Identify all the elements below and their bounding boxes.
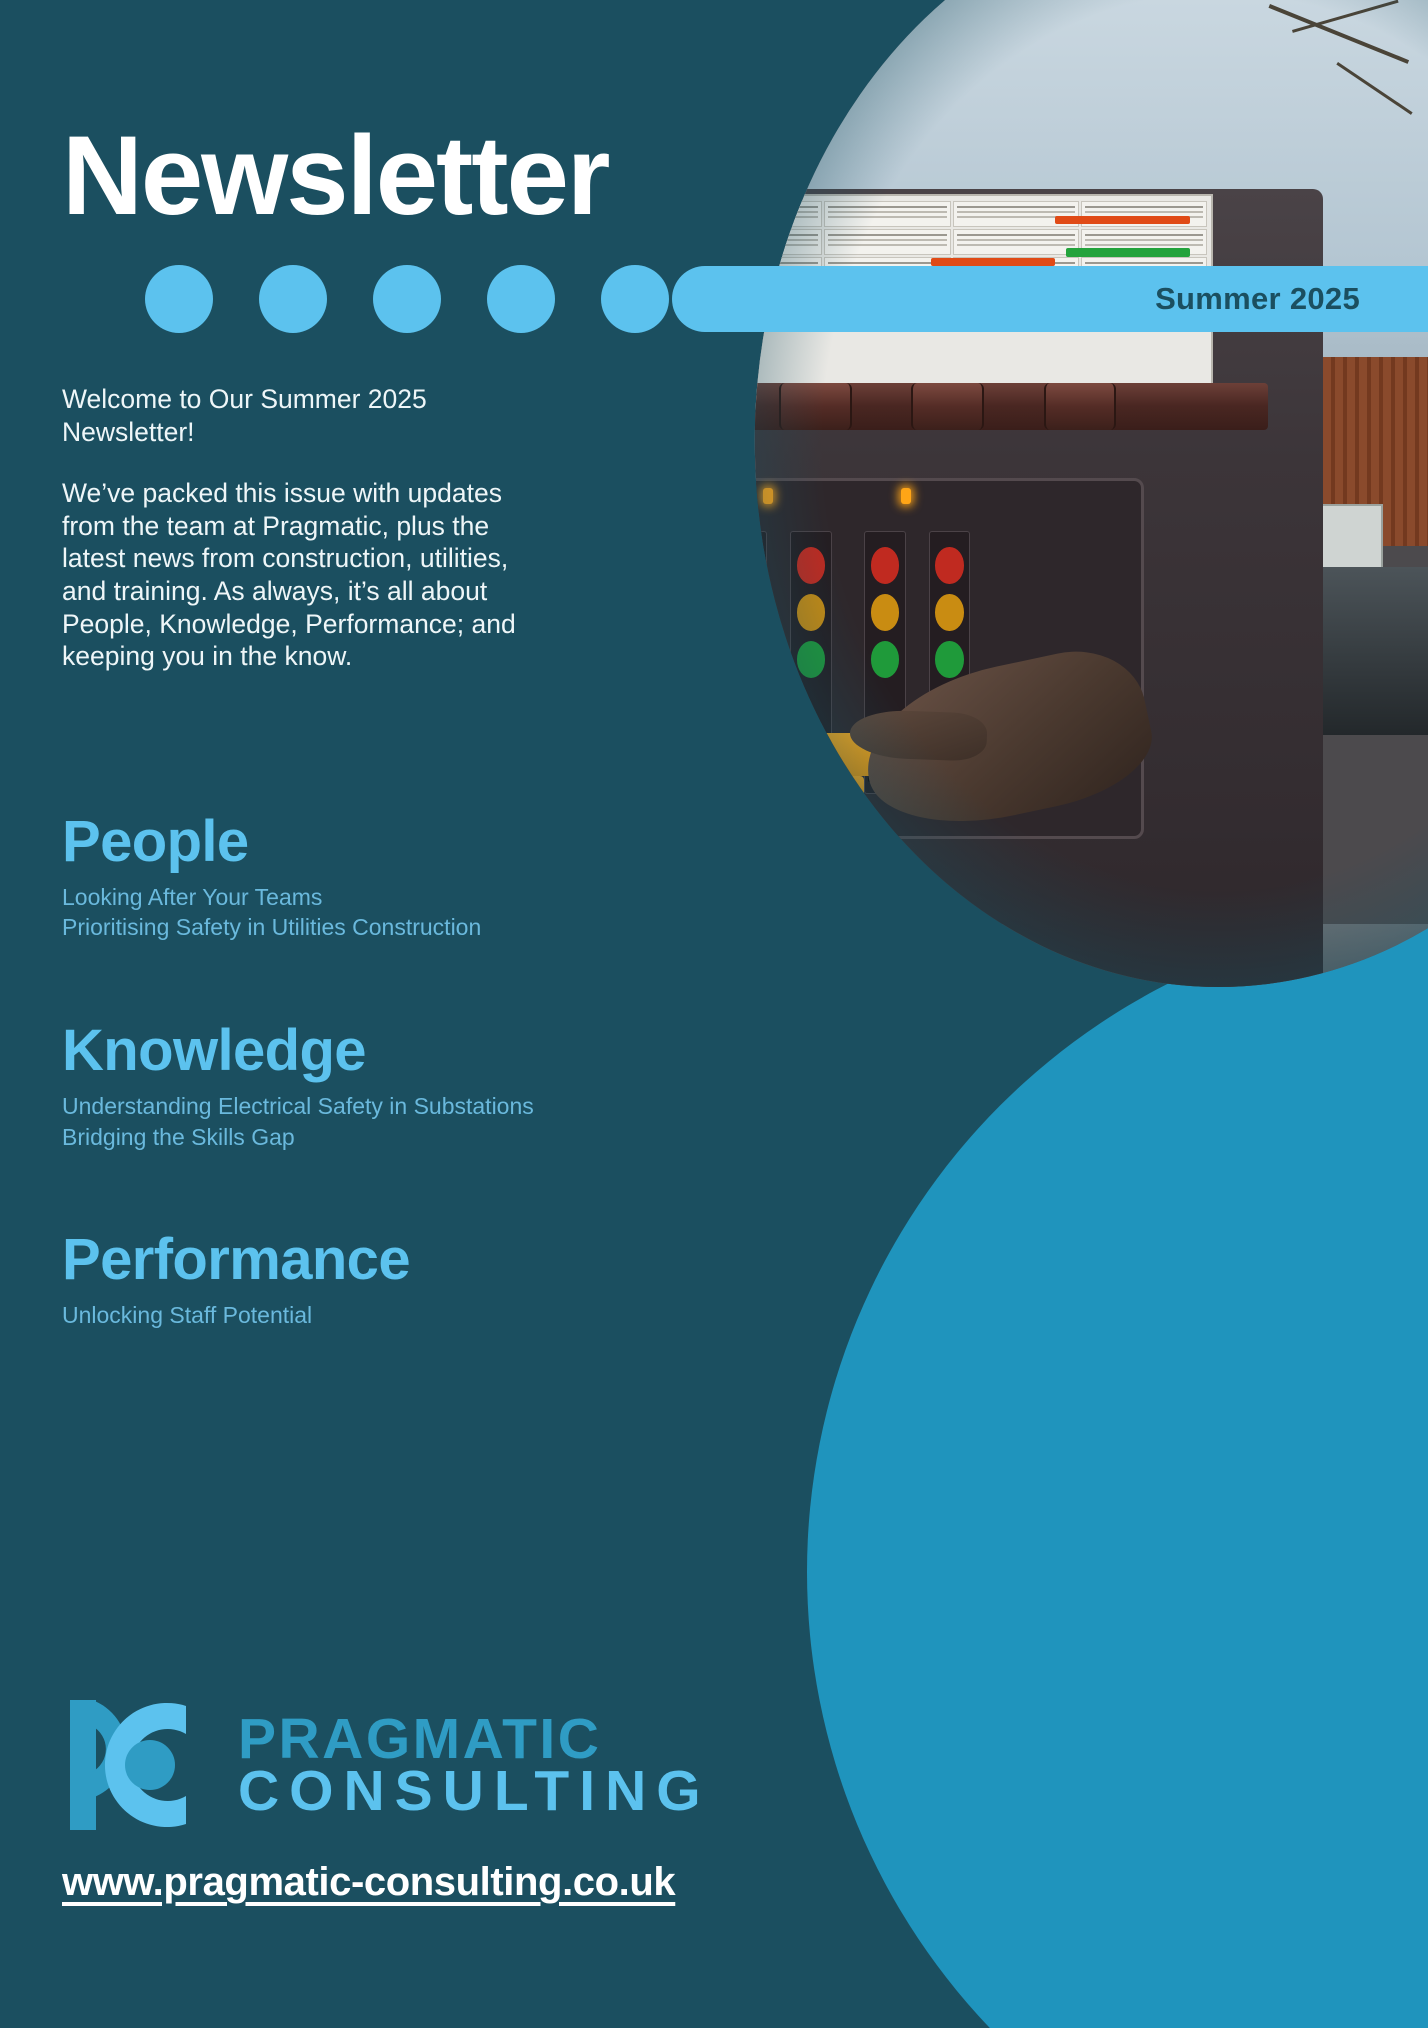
newsletter-cover-page: 85 35 85 bbox=[0, 0, 1428, 2028]
section-item[interactable]: Understanding Electrical Safety in Subst… bbox=[62, 1091, 702, 1122]
logo-name-line-2: CONSULTING bbox=[238, 1765, 711, 1817]
page-title: Newsletter bbox=[62, 120, 608, 232]
section-heading-knowledge: Knowledge bbox=[62, 1021, 702, 1082]
photo-blend-scrim bbox=[680, 0, 1428, 1050]
logo-mark-icon bbox=[62, 1690, 212, 1840]
intro-copy: Welcome to Our Summer 2025 Newsletter! W… bbox=[62, 383, 532, 673]
section-people: People Looking After Your Teams Prioriti… bbox=[62, 812, 702, 943]
website-link[interactable]: www.pragmatic-consulting.co.uk bbox=[62, 1860, 675, 1905]
decorative-dot bbox=[259, 265, 327, 333]
section-knowledge: Knowledge Understanding Electrical Safet… bbox=[62, 1021, 702, 1152]
decorative-dot bbox=[373, 265, 441, 333]
contents-sections: People Looking After Your Teams Prioriti… bbox=[62, 812, 702, 1331]
photo-lamp-amber bbox=[732, 594, 760, 631]
section-heading-people: People bbox=[62, 812, 702, 873]
logo-wordmark: PRAGMATIC CONSULTING bbox=[238, 1713, 711, 1818]
photo-hinge-segment bbox=[680, 383, 720, 430]
section-item[interactable]: Bridging the Skills Gap bbox=[62, 1122, 702, 1153]
logo-name-line-1: PRAGMATIC bbox=[238, 1713, 711, 1765]
photo-control-knob bbox=[734, 782, 764, 812]
section-performance: Performance Unlocking Staff Potential bbox=[62, 1230, 702, 1330]
decorative-circle bbox=[807, 912, 1428, 2028]
intro-paragraph-2: We’ve packed this issue with updates fro… bbox=[62, 477, 532, 673]
decorative-dots-row bbox=[145, 265, 669, 333]
issue-badge: Summer 2025 bbox=[672, 266, 1428, 332]
photo-segment-display: 35 bbox=[794, 740, 829, 782]
hero-photo: 85 35 85 bbox=[680, 0, 1428, 1050]
intro-paragraph-1: Welcome to Our Summer 2025 Newsletter! bbox=[62, 383, 532, 448]
decorative-dot bbox=[601, 265, 669, 333]
section-heading-performance: Performance bbox=[62, 1230, 702, 1291]
photo-lamp-green bbox=[732, 641, 760, 678]
photo-yellow-panel-lower bbox=[726, 776, 865, 808]
section-item[interactable]: Looking After Your Teams bbox=[62, 882, 702, 913]
decorative-dot bbox=[487, 265, 555, 333]
section-item[interactable]: Unlocking Staff Potential bbox=[62, 1300, 702, 1331]
photo-segment-display: 85 bbox=[729, 740, 764, 782]
section-item[interactable]: Prioritising Safety in Utilities Constru… bbox=[62, 912, 702, 943]
decorative-dot bbox=[145, 265, 213, 333]
company-logo: PRAGMATIC CONSULTING bbox=[62, 1690, 711, 1840]
photo-signal-column: 85 bbox=[726, 531, 768, 794]
photo-lamp-red bbox=[732, 547, 760, 584]
